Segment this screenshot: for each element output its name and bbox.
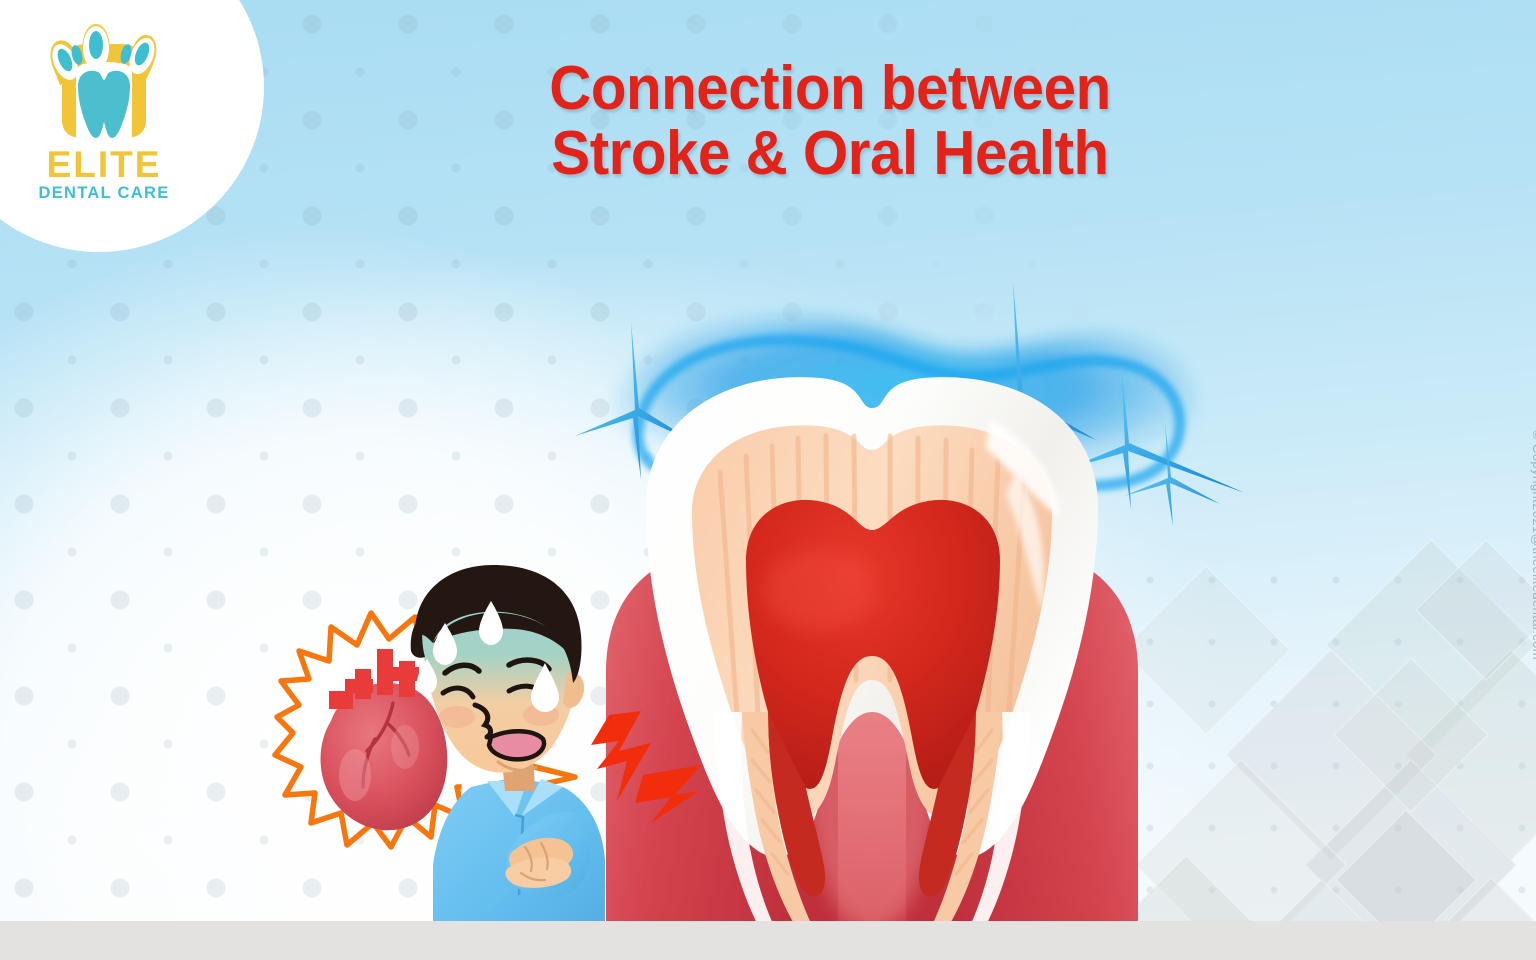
bottom-bar bbox=[0, 921, 1536, 960]
headline-line-2: Stroke & Oral Health bbox=[454, 121, 1206, 186]
pain-bolt-icons bbox=[591, 711, 701, 823]
hands-cupping-tooth-icon bbox=[36, 22, 172, 146]
logo-brand-name: ELITE bbox=[24, 146, 184, 183]
headline-line-1: Connection between bbox=[549, 54, 1110, 123]
man-illustration bbox=[275, 565, 725, 935]
logo-tagline: DENTAL CARE bbox=[24, 185, 184, 202]
poster-canvas: ELITE DENTAL CARE Connection between Str… bbox=[0, 0, 1536, 960]
logo[interactable]: ELITE DENTAL CARE bbox=[24, 22, 184, 202]
copyright-text: © Copyright2021@theelitedental.com bbox=[1530, 430, 1536, 660]
page-title: Connection between Stroke & Oral Health bbox=[454, 56, 1206, 186]
